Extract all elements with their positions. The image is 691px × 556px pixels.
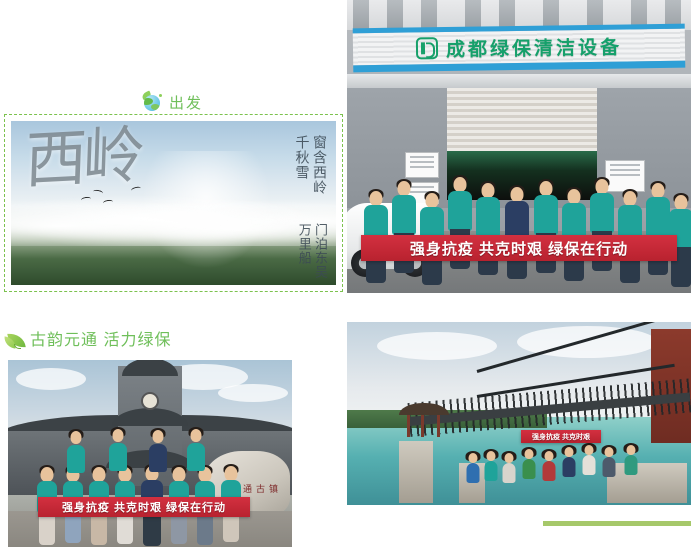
storefront-sign-text: 成都绿保清洁设备 (446, 32, 622, 61)
hero-poem-line-1: 窗含西岭千秋雪 (292, 135, 327, 201)
flying-birds-icon (81, 187, 161, 209)
company-storefront-group-photo: 成都绿保清洁设备 强身抗疫 共克时艰 (347, 0, 691, 293)
slogan-banner: 强身抗疫 共克时艰 绿保在行动 (361, 235, 677, 261)
staff-group (347, 163, 691, 293)
cloud (16, 368, 86, 390)
footer-green-divider (543, 521, 691, 526)
tower-clock-face (141, 392, 159, 410)
hero-calligraphy-title: 西岭 (24, 124, 142, 192)
depart-label: 出发 (169, 96, 203, 111)
cloud (377, 332, 497, 360)
slogan-banner: 强身抗疫 共克时艰 (521, 430, 601, 443)
cloud (218, 384, 288, 402)
tourist-group (464, 461, 677, 505)
hero-image-frame: 西岭 窗含西岭千秋雪 门泊东吴万里船 (4, 114, 343, 292)
suspension-bridge-group-photo: 强身抗疫 共克时艰 (347, 322, 691, 505)
yuantong-ancient-town-clock-tower-photo: 元通古镇 强身抗疫 共克时艰 绿保在行动 (8, 360, 292, 547)
hero-poem-line-2: 门泊东吴万里船 (292, 223, 327, 285)
xiling-snow-mountain-photo: 西岭 窗含西岭千秋雪 门泊东吴万里船 (11, 121, 336, 285)
globe-earth-icon (142, 93, 162, 113)
article-page: 出发 西岭 窗含西岭千秋雪 门泊东吴万里船 成都绿保清洁设备 (0, 0, 691, 556)
section-heading: 古韵元通 活力绿保 (4, 329, 171, 353)
storefront-awning (347, 74, 691, 88)
hero-poem: 窗含西岭千秋雪 门泊东吴万里船 (292, 135, 327, 285)
lvbao-logo-icon (416, 37, 438, 59)
slogan-banner: 强身抗疫 共克时艰 绿保在行动 (38, 497, 250, 517)
section-heading-title: 古韵元通 活力绿保 (30, 333, 171, 349)
hero-clouds (11, 196, 336, 245)
bridge-pier (399, 441, 433, 503)
leaf-icon (4, 332, 26, 350)
roller-shutter (447, 88, 597, 151)
storefront-sign: 成都绿保清洁设备 (353, 24, 686, 73)
bridge-pavilion (405, 403, 443, 437)
